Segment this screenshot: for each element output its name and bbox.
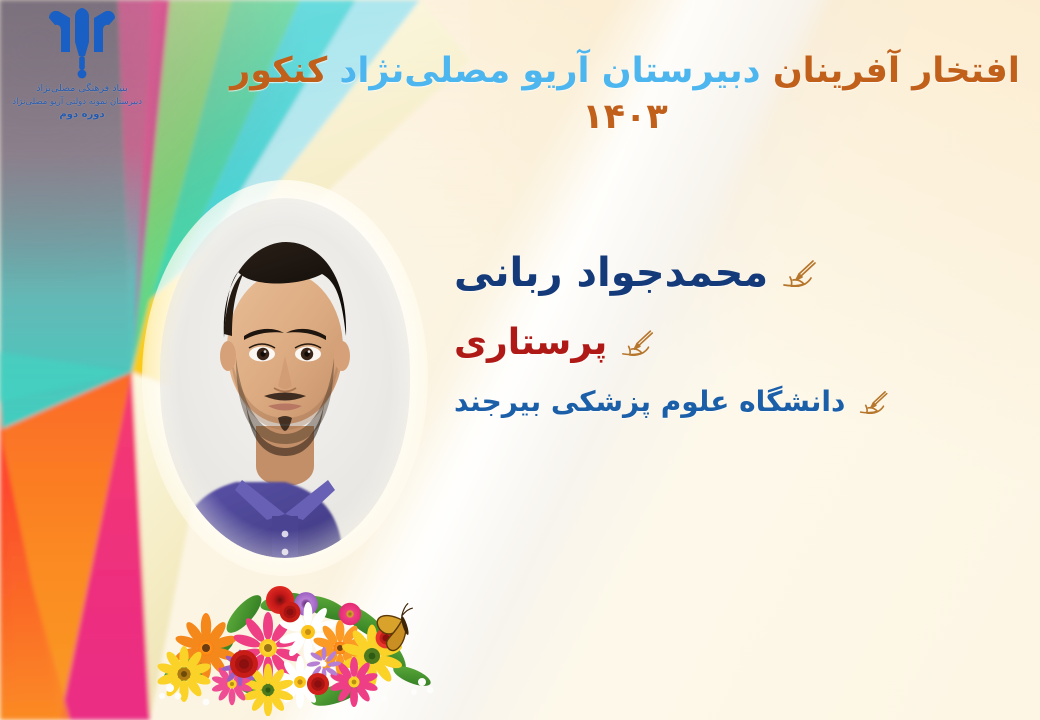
pen-nib-open-book-logo-icon (45, 8, 119, 80)
flower-bouquet-decoration (140, 556, 450, 716)
student-university: دانشگاه علوم پزشکی بیرجند (454, 385, 845, 418)
headline-part-school: دبیرستان آریو مصلی‌نژاد (339, 51, 760, 91)
student-major: پرستاری (454, 322, 607, 363)
student-name: محمدجواد ربانی (454, 250, 768, 296)
student-name-row: محمدجواد ربانی (454, 250, 1014, 296)
school-logo-text: بنیاد فرهنگی مصلی‌نژاد دبیرستان نمونه دو… (22, 82, 142, 123)
student-university-row: دانشگاه علوم پزشکی بیرجند (454, 385, 1014, 418)
writing-hand-pen-icon (621, 329, 657, 356)
logo-line-foundation: بنیاد فرهنگی مصلی‌نژاد (22, 82, 142, 96)
logo-line-school: دبیرستان نمونه دولتی آریو مصلی‌نژاد (22, 96, 142, 108)
writing-hand-pen-icon (859, 390, 891, 414)
headline-part-honorees: افتخار آفرینان (773, 51, 1020, 91)
portrait-frame (160, 198, 410, 558)
student-photo (160, 198, 410, 558)
poster-root: بنیاد فرهنگی مصلی‌نژاد دبیرستان نمونه دو… (0, 0, 1040, 720)
page-title: افتخار آفرینان دبیرستان آریو مصلی‌نژاد ک… (230, 48, 1020, 140)
school-logo: بنیاد فرهنگی مصلی‌نژاد دبیرستان نمونه دو… (22, 8, 142, 158)
student-major-row: پرستاری (454, 322, 1014, 363)
student-info: محمدجواد ربانی پرستاری (454, 250, 1014, 432)
logo-line-period: دوره دوم (22, 108, 142, 123)
writing-hand-pen-icon (782, 259, 820, 287)
